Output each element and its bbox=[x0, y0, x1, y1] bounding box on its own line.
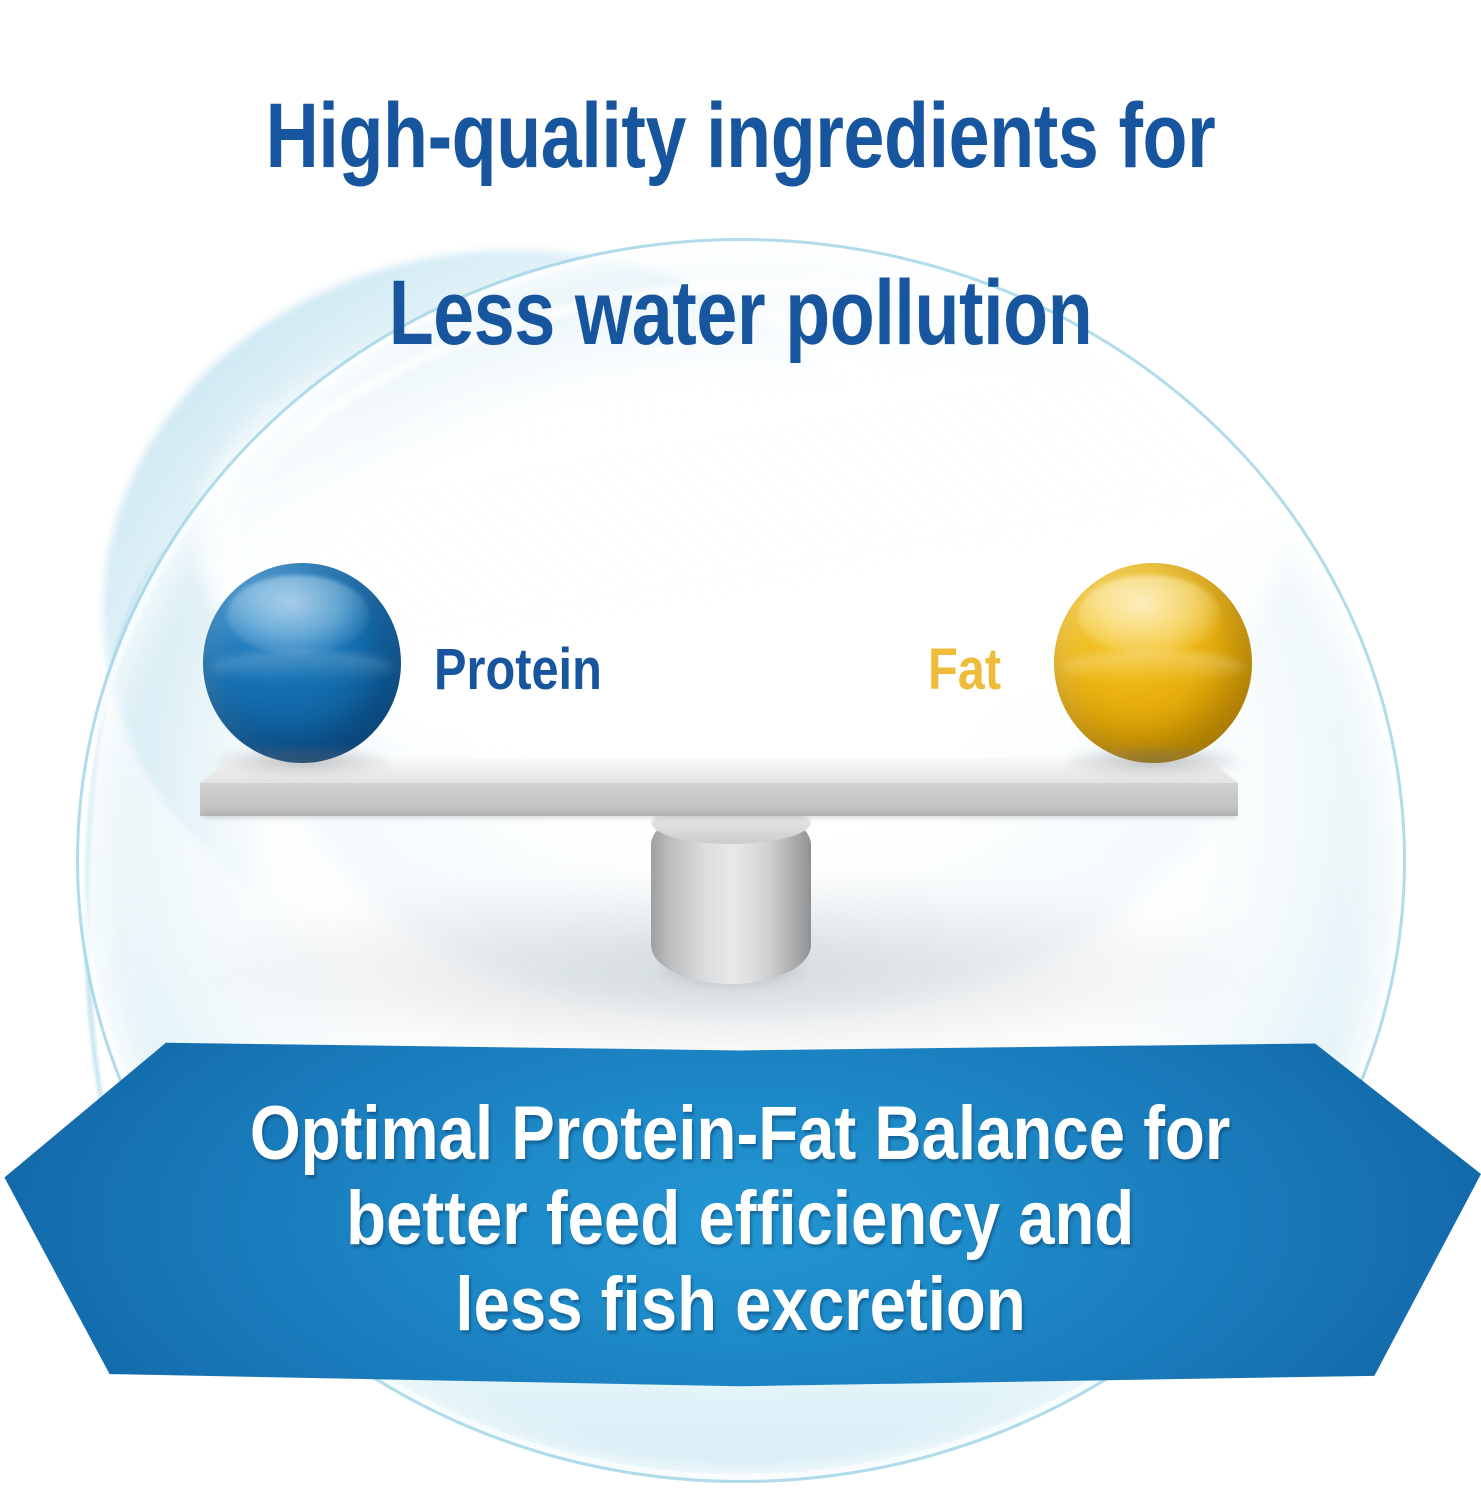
fat-label: Fat bbox=[928, 641, 1001, 699]
balance-ground-shadow bbox=[205, 880, 1245, 1060]
protein-sphere-equator-reflection bbox=[211, 651, 393, 683]
banner-line-3: less fish excretion bbox=[455, 1265, 1025, 1344]
plank-bottom-lip-shadow bbox=[202, 814, 1236, 820]
fat-sphere bbox=[1054, 563, 1252, 763]
protein-sphere-highlight bbox=[227, 575, 370, 655]
page-title: High-quality ingredients for Less water … bbox=[148, 4, 1333, 446]
fulcrum-foot-shadow bbox=[660, 956, 804, 988]
banner-line-2: better feed efficiency and bbox=[346, 1179, 1134, 1258]
page-title-line-1: High-quality ingredients for bbox=[148, 92, 1333, 180]
banner-line-1: Optimal Protein-Fat Balance for bbox=[250, 1094, 1231, 1173]
fat-sphere-equator-reflection bbox=[1062, 651, 1244, 683]
bottom-ribbon-banner: Optimal Protein-Fat Balance for better f… bbox=[0, 1040, 1481, 1388]
protein-sphere bbox=[203, 563, 401, 763]
page-title-line-2: Less water pollution bbox=[148, 269, 1333, 357]
fulcrum-cylinder bbox=[651, 806, 811, 984]
fat-sphere-highlight bbox=[1078, 575, 1221, 655]
protein-label: Protein bbox=[434, 641, 602, 699]
fulcrum-top-cap bbox=[651, 800, 811, 844]
plank-front-face bbox=[200, 782, 1238, 816]
banner-text-block: Optimal Protein-Fat Balance for better f… bbox=[0, 1040, 1481, 1388]
